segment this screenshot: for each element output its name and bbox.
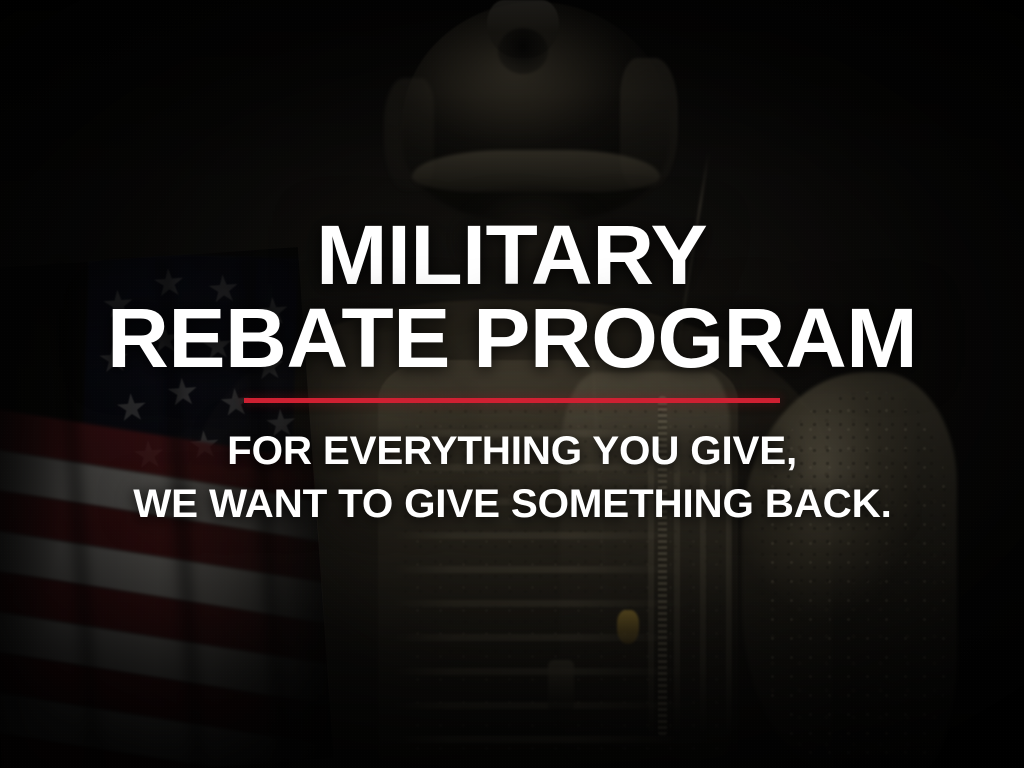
subheadline-line-1: FOR EVERYTHING YOU GIVE, <box>227 425 797 478</box>
headline-line-1: MILITARY <box>317 214 708 297</box>
military-rebate-banner: MILITARY REBATE PROGRAM FOR EVERYTHING Y… <box>0 0 1024 768</box>
red-divider-rule <box>244 398 780 403</box>
subheadline-line-2: WE WANT TO GIVE SOMETHING BACK. <box>133 478 891 531</box>
banner-content: MILITARY REBATE PROGRAM FOR EVERYTHING Y… <box>0 0 1024 768</box>
headline-line-2: REBATE PROGRAM <box>107 297 917 380</box>
